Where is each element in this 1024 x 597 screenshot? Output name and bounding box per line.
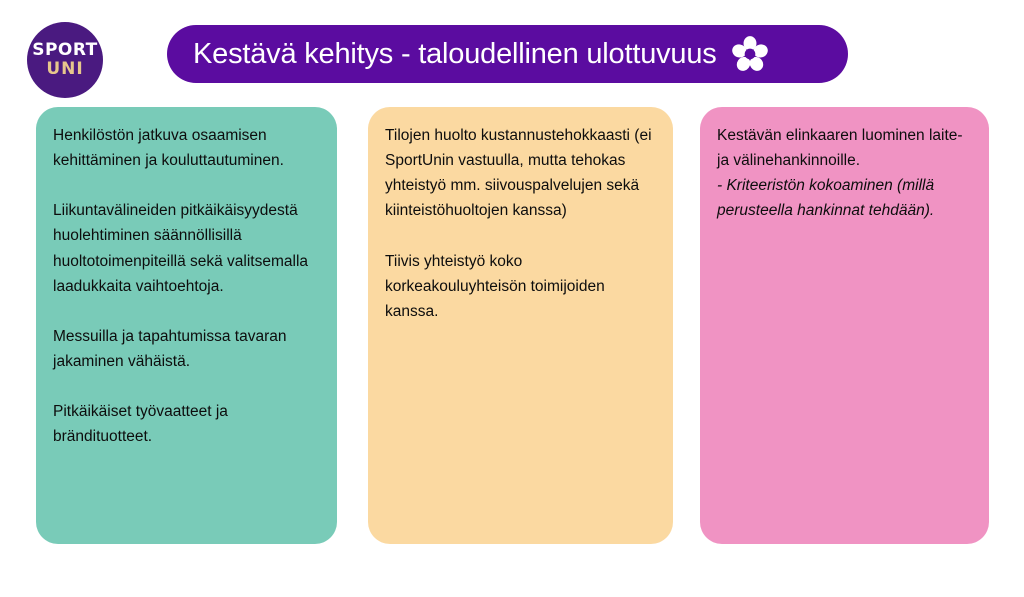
card-paragraph: Messuilla ja tapahtumissa tavaran jakami… [53, 324, 317, 374]
card-henkilosto: Henkilöstön jatkuva osaamisen kehittämin… [36, 107, 337, 544]
card-paragraph: Tilojen huolto kustannustehokkaasti (ei … [385, 123, 653, 223]
card-tilojen-huolto: Tilojen huolto kustannustehokkaasti (ei … [368, 107, 673, 544]
card-paragraph: - Kriteeristön kokoaminen (millä peruste… [717, 173, 969, 223]
card-paragraph: Henkilöstön jatkuva osaamisen kehittämin… [53, 123, 317, 173]
card-paragraph: Liikuntavälineiden pitkäikäisyydestä huo… [53, 198, 317, 298]
content-cards: Henkilöstön jatkuva osaamisen kehittämin… [0, 0, 1024, 597]
card-paragraph: Kestävän elinkaaren luominen laite- ja v… [717, 123, 969, 173]
card-paragraph: Tiivis yhteistyö koko korkeakouluyhteisö… [385, 249, 653, 324]
card-paragraph: Pitkäikäiset työvaatteet ja brändituotte… [53, 399, 317, 449]
card-elinkaari: Kestävän elinkaaren luominen laite- ja v… [700, 107, 989, 544]
